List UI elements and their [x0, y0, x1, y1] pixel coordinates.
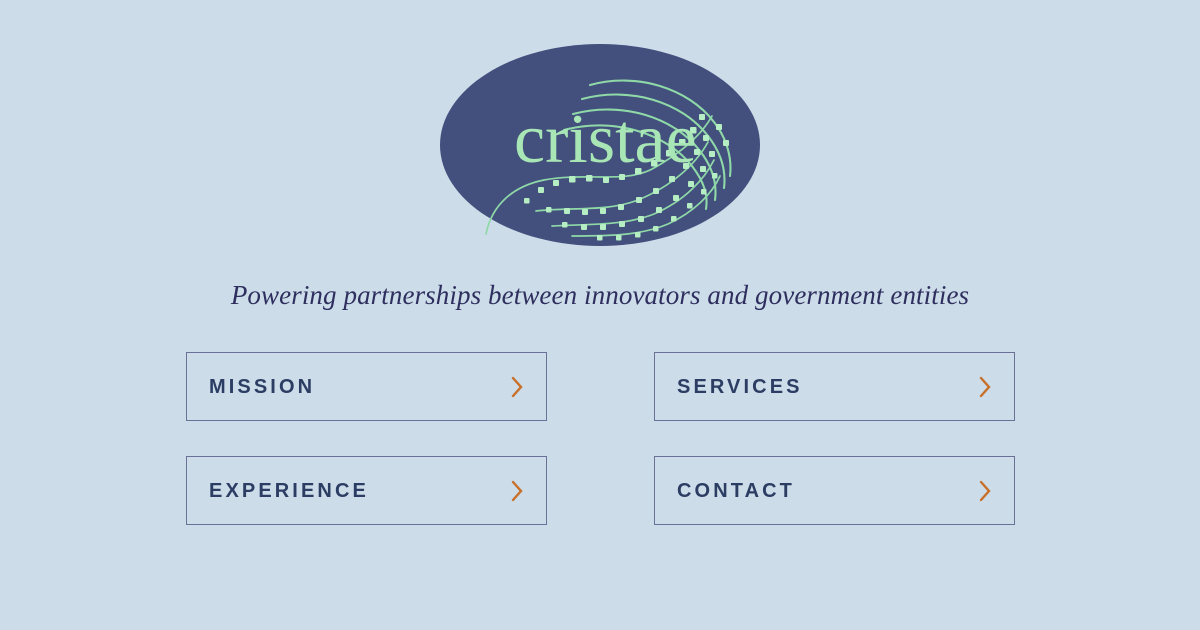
nav-button-grid: MISSION SERVICES EXPERIENCE CONTACT [186, 352, 1015, 525]
chevron-right-icon [510, 376, 524, 398]
tagline: Powering partnerships between innovators… [0, 278, 1200, 312]
nav-button-label: CONTACT [677, 481, 795, 501]
landing-page: cristae Powering partnerships between in… [0, 0, 1200, 630]
nav-button-experience[interactable]: EXPERIENCE [186, 456, 547, 525]
nav-button-label: EXPERIENCE [209, 481, 369, 501]
chevron-right-icon [978, 480, 992, 502]
nav-button-label: SERVICES [677, 377, 803, 397]
nav-button-contact[interactable]: CONTACT [654, 456, 1015, 525]
cristae-logo[interactable]: cristae [440, 44, 760, 246]
nav-button-label: MISSION [209, 377, 315, 397]
chevron-right-icon [510, 480, 524, 502]
logo-wordmark: cristae [514, 101, 697, 178]
chevron-right-icon [978, 376, 992, 398]
nav-button-services[interactable]: SERVICES [654, 352, 1015, 421]
logo-graphic: cristae [440, 44, 760, 246]
nav-button-mission[interactable]: MISSION [186, 352, 547, 421]
